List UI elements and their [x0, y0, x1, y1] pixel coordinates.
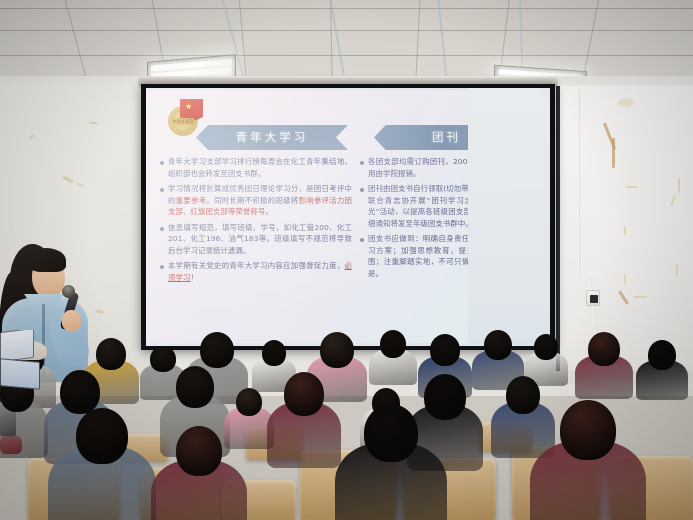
tape-mark: [626, 186, 637, 188]
audience-member-head: [534, 334, 558, 360]
tape-mark: [618, 290, 629, 304]
slide-blank-margin: [468, 88, 550, 346]
tape-mark: [612, 138, 615, 168]
slide-bullet-text: 学习情况将折算成优秀团日理论学习分，是团日考评中的重要参考。同时长期不积极的班级…: [168, 183, 352, 218]
tape-mark: [624, 274, 626, 285]
slide-bullet-text: 本学期有关党史的青年大学习内容应加强督促力度，必须学习！: [168, 260, 352, 283]
slide-bullet-text: 青年大学习支部学习排行榜每周会在化工青年集结地、组织部也会转发至团支书群。: [168, 156, 352, 179]
audience-member-head: [96, 338, 126, 370]
slide-text-run: 重要参考: [176, 196, 207, 205]
tape-mark: [678, 178, 680, 192]
audience-seating: [0, 330, 693, 520]
bullet-dot-icon: [360, 161, 364, 165]
slide-text-run: 团刊由团支书自行领取(切勿带后发放)，组织部将联合青志协开展“团刊学习志愿者”和…: [368, 184, 469, 228]
emblem-band-text: 中国共青团: [171, 118, 195, 125]
laptop-screen: [0, 330, 34, 362]
bullet-dot-icon: [360, 188, 364, 192]
tape-mark: [671, 196, 676, 206]
laptop-screen: [0, 358, 40, 389]
audience-member-head: [380, 330, 406, 358]
slide-bullet: 青年大学习支部学习排行榜每周会在化工青年集结地、组织部也会转发至团支书群。: [160, 156, 352, 179]
audience-member-head: [284, 372, 324, 416]
audience-member-head: [176, 426, 222, 476]
audience-member-head: [484, 330, 512, 360]
slide-text-run: 青年大学习支部学习排行榜每周会在化工青年集结地、组织部也会转发至团支书群。: [168, 157, 352, 178]
presentation-slide: 中国共青团 青年大学习 团刊 青年大学习支部学习排行榜每周会在化工青年集结地、组…: [146, 90, 469, 343]
whiteboard-right-wall: [556, 86, 693, 371]
slide-bullet: 信息填写规范，填写班级、学号，如化工管200、化工201、化工196、油气183…: [160, 222, 352, 257]
tape-mark: [676, 264, 678, 276]
audience-member-head: [560, 400, 616, 460]
slide-text-run: 各团支部均需订购团刊，200元/年，今年团刊费用由学院报销。: [368, 157, 469, 178]
hanging-cable: [578, 88, 580, 276]
slide-bullet: 团刊由团支书自行领取(切勿带后发放)，组织部将联合青志协开展“团刊学习志愿者”和…: [360, 183, 469, 229]
audience-member-head: [320, 332, 354, 368]
slide-bullet: 学习情况将折算成优秀团日理论学习分，是团日考评中的重要参考。同时长期不积极的班级…: [160, 183, 352, 218]
slide-bullet: 本学期有关党史的青年大学习内容应加强督促力度，必须学习！: [160, 260, 352, 283]
communist-youth-league-emblem: 中国共青团: [168, 99, 203, 136]
slide-text-run: 。: [265, 207, 273, 216]
tape-mark: [618, 98, 634, 107]
presenter-hand: [62, 310, 81, 331]
slide-bullet-text: 团支书应做到：明确自身责任，精心准备团刊学习方案；加强思想教育，提升班级团刊学习…: [368, 233, 469, 279]
slide-text-run: 信息填写规范，填写班级、学号，如化工管200、化工201、化工196、油气183…: [168, 223, 352, 255]
audience-member-head: [150, 346, 176, 372]
audience-member-head: [60, 370, 100, 414]
audience-member-head: [200, 332, 234, 368]
slide-text-run: 团支书应做到：明确自身责任，精心准备团刊学习方案；加强思想教育，提升班级团刊学习…: [368, 234, 469, 278]
bullet-dot-icon: [160, 161, 164, 165]
slide-bullet-text: 团刊由团支书自行领取(切勿带后发放)，组织部将联合青志协开展“团刊学习志愿者”和…: [368, 183, 469, 229]
slide-column-left: 青年大学习支部学习排行榜每周会在化工青年集结地、组织部也会转发至团支书群。学习情…: [160, 156, 352, 287]
slide-bullet-text: 各团支部均需订购团刊，200元/年，今年团刊费用由学院报销。: [368, 156, 469, 179]
audience-member-head: [506, 376, 540, 414]
slide-text-run: ！: [190, 273, 198, 282]
tape-mark: [634, 296, 647, 298]
presenter-hair-front: [28, 248, 66, 272]
slide-column-right: 各团支部均需订购团刊，200元/年，今年团刊费用由学院报销。团刊由团支书自行领取…: [360, 156, 469, 283]
audience-member-head: [588, 332, 620, 366]
audience-member-head: [424, 374, 466, 420]
slide-header-league-journal: 团刊: [374, 125, 469, 150]
bullet-dot-icon: [160, 188, 164, 192]
audience-member-head: [364, 404, 418, 462]
audience-member-head: [262, 340, 286, 366]
bullet-dot-icon: [160, 227, 164, 231]
slide-bullet-text: 信息填写规范，填写班级、学号，如化工管200、化工201、化工196、油气183…: [168, 222, 352, 257]
bullet-dot-icon: [360, 238, 364, 242]
classroom-photo: 中国共青团 青年大学习 团刊 青年大学习支部学习排行榜每周会在化工青年集结地、组…: [0, 0, 693, 520]
projection-screen: 中国共青团 青年大学习 团刊 青年大学习支部学习排行榜每周会在化工青年集结地、组…: [141, 84, 555, 350]
audience-member-head: [76, 408, 128, 464]
slide-text-run: 本学期有关党史的青年大学习内容应加强督促力度，: [168, 261, 345, 270]
slide-header-youth-study: 青年大学习: [196, 125, 348, 150]
audience-member-head: [430, 334, 460, 366]
slide-text-run: 。同时长期不积极的班级将: [206, 196, 298, 205]
bullet-dot-icon: [160, 265, 164, 269]
audience-member-head: [176, 366, 214, 408]
wall-power-outlet[interactable]: [586, 290, 600, 306]
audience-member-head: [236, 388, 262, 416]
tape-mark: [624, 226, 626, 235]
slide-bullet: 各团支部均需订购团刊，200元/年，今年团刊费用由学院报销。: [360, 156, 469, 179]
audience-member-head: [648, 340, 676, 370]
slide-bullet: 团支书应做到：明确自身责任，精心准备团刊学习方案；加强思想教育，提升班级团刊学习…: [360, 233, 469, 279]
